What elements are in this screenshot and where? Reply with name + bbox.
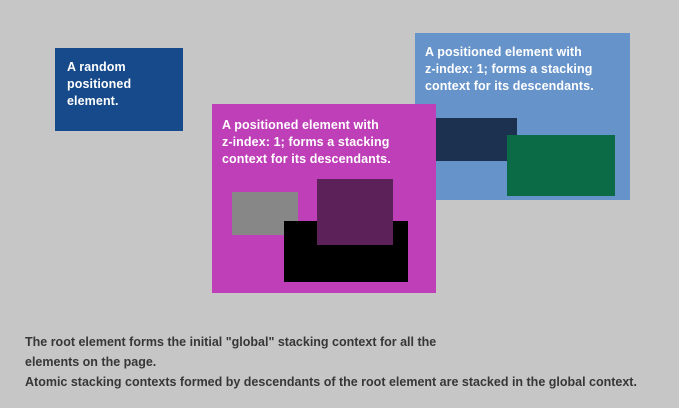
blue-stacking-context-box: A positioned element with z-index: 1; fo… <box>415 33 630 200</box>
caption-line-1: The root element forms the initial "glob… <box>25 332 665 352</box>
magenta-context-purple-child <box>317 179 393 245</box>
magenta-stacking-context-label: A positioned element with z-index: 1; fo… <box>222 117 430 168</box>
caption-line-2: elements on the page. <box>25 352 665 372</box>
blue-context-green-child <box>507 135 615 196</box>
stacking-context-diagram: A random positioned element. A positione… <box>0 0 679 408</box>
blue-context-navy-child <box>427 118 517 161</box>
blue-stacking-context-label: A positioned element with z-index: 1; fo… <box>425 44 625 95</box>
magenta-stacking-context-box: A positioned element with z-index: 1; fo… <box>212 104 436 293</box>
caption-line-3: Atomic stacking contexts formed by desce… <box>25 372 665 392</box>
random-positioned-element-box: A random positioned element. <box>55 48 183 131</box>
diagram-caption: The root element forms the initial "glob… <box>25 332 665 392</box>
random-positioned-element-label: A random positioned element. <box>67 59 175 110</box>
